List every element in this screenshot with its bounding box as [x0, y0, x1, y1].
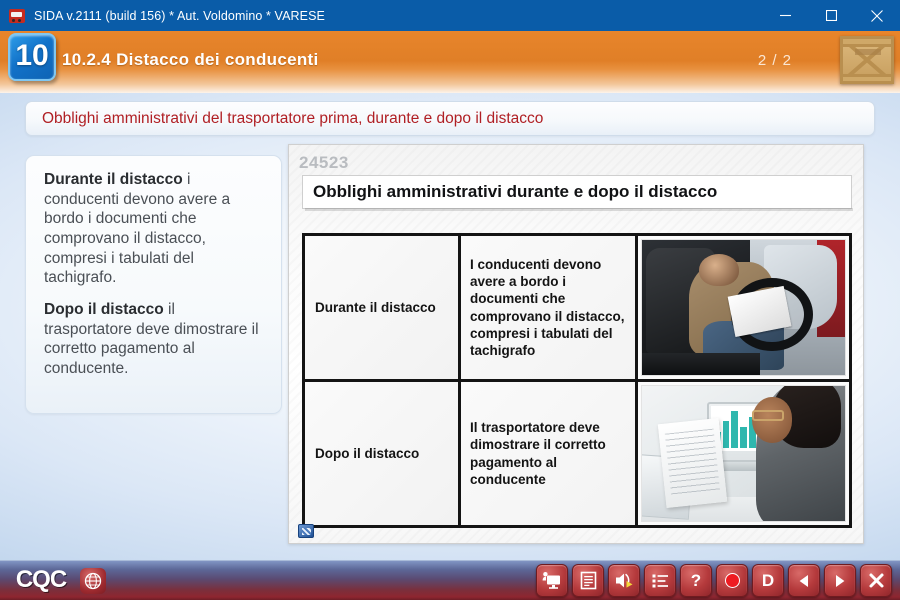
truck-driver-reading-documents-photo: [641, 239, 846, 376]
image-cell: [638, 236, 849, 379]
presentation-button[interactable]: [536, 564, 568, 597]
woman-reviewing-payroll-documents-photo: [641, 385, 846, 522]
previous-button[interactable]: [788, 564, 820, 597]
slide-canvas: 24523 Obblighi amministrativi durante e …: [288, 144, 864, 544]
record-dot-icon: [725, 573, 740, 588]
table-row: Dopo il distacco Il trasportatore deve d…: [305, 382, 849, 525]
page-indicator: 2 / 2: [758, 52, 792, 69]
close-button[interactable]: [854, 0, 900, 31]
maximize-button[interactable]: [808, 0, 854, 31]
bullet-list-icon: [651, 572, 670, 590]
image-cell: [638, 382, 849, 525]
index-list-button[interactable]: [644, 564, 676, 597]
slide-heading: Obblighi amministrativi durante e dopo i…: [303, 182, 717, 202]
description-cell: Il trasportatore deve dimostrare il corr…: [461, 382, 638, 525]
summary-paragraph-1: Durante il distacco i conducenti devono …: [44, 170, 265, 288]
x-cross-icon: [868, 572, 885, 589]
slide-number: 24523: [299, 153, 349, 173]
slide-heading-box: Obblighi amministrativi durante e dopo i…: [302, 175, 852, 209]
slide-thumb-icon: [298, 524, 314, 538]
exit-button[interactable]: [860, 564, 892, 597]
help-button[interactable]: ?: [680, 564, 712, 597]
document-lines-icon: [580, 571, 597, 590]
application-window: SIDA v.2111 (build 156) * Aut. Voldomino…: [0, 0, 900, 600]
audio-play-button[interactable]: [608, 564, 640, 597]
speaker-play-icon: [614, 571, 635, 590]
summary-lead-2: Dopo il distacco: [44, 301, 164, 318]
question-mark-icon: ?: [691, 571, 701, 591]
phase-cell: Durante il distacco: [305, 236, 461, 379]
phase-cell: Dopo il distacco: [305, 382, 461, 525]
summary-paragraph-2: Dopo il distacco il trasportatore deve d…: [44, 300, 265, 379]
summary-lead-1: Durante il distacco: [44, 171, 183, 188]
toolbar-buttons: ? D: [536, 564, 892, 597]
summary-panel: Durante il distacco i conducenti devono …: [25, 155, 282, 414]
chapter-number-badge: 10: [8, 33, 56, 81]
summary-rest-1: i conducenti devono avere a bordo i docu…: [44, 171, 230, 286]
description-cell: I conducenti devono avere a bordo i docu…: [461, 236, 638, 379]
section-banner: Obblighi amministrativi del trasportator…: [25, 101, 875, 136]
page-title: 10.2.4 Distacco dei conducenti: [62, 50, 319, 70]
next-button[interactable]: [824, 564, 856, 597]
dictionary-button[interactable]: D: [752, 564, 784, 597]
truck-icon: [9, 9, 25, 23]
cqc-logo: CQC: [6, 565, 76, 595]
window-title-bar: SIDA v.2111 (build 156) * Aut. Voldomino…: [0, 0, 900, 31]
record-button[interactable]: [716, 564, 748, 597]
triangle-right-icon: [832, 573, 848, 589]
crate-icon: [840, 36, 894, 84]
table-row: Durante il distacco I conducenti devono …: [305, 236, 849, 382]
letter-d-icon: D: [762, 571, 774, 591]
window-title: SIDA v.2111 (build 156) * Aut. Voldomino…: [34, 9, 762, 23]
triangle-left-icon: [796, 573, 812, 589]
window-controls: [762, 0, 900, 31]
globe-icon[interactable]: [80, 568, 106, 594]
text-page-button[interactable]: [572, 564, 604, 597]
monitor-presentation-icon: [542, 571, 562, 590]
obligations-table: Durante il distacco I conducenti devono …: [302, 233, 852, 528]
bottom-toolbar: CQC: [0, 560, 900, 600]
minimize-button[interactable]: [762, 0, 808, 31]
section-banner-text: Obblighi amministrativi del trasportator…: [26, 110, 543, 128]
